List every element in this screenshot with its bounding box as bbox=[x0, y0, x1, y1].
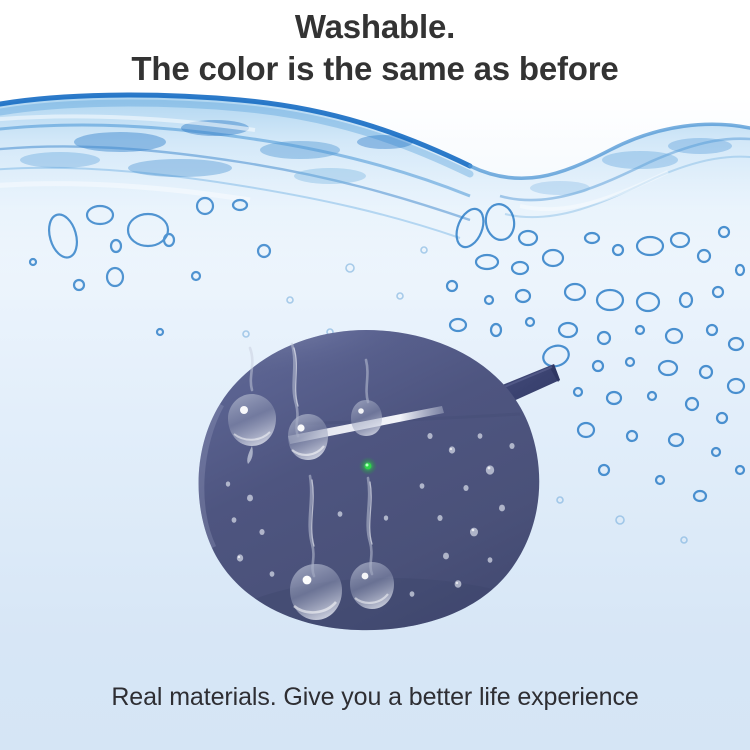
led-indicator bbox=[359, 457, 377, 475]
product-case bbox=[190, 318, 560, 638]
product-case-svg bbox=[190, 318, 560, 638]
bottom-caption: Real materials. Give you a better life e… bbox=[0, 683, 750, 712]
droplet-lower-mid bbox=[350, 562, 394, 609]
droplet-lower-left bbox=[290, 564, 342, 620]
droplet-upper-mid bbox=[351, 400, 382, 436]
headline-line-2: The color is the same as before bbox=[0, 48, 750, 90]
droplet-mid-left bbox=[288, 414, 328, 460]
product-image-canvas: Washable. The color is the same as befor… bbox=[0, 0, 750, 750]
bubble-group-left bbox=[30, 198, 270, 335]
headline-line-1: Washable. bbox=[0, 6, 750, 48]
headline-block: Washable. The color is the same as befor… bbox=[0, 6, 750, 89]
